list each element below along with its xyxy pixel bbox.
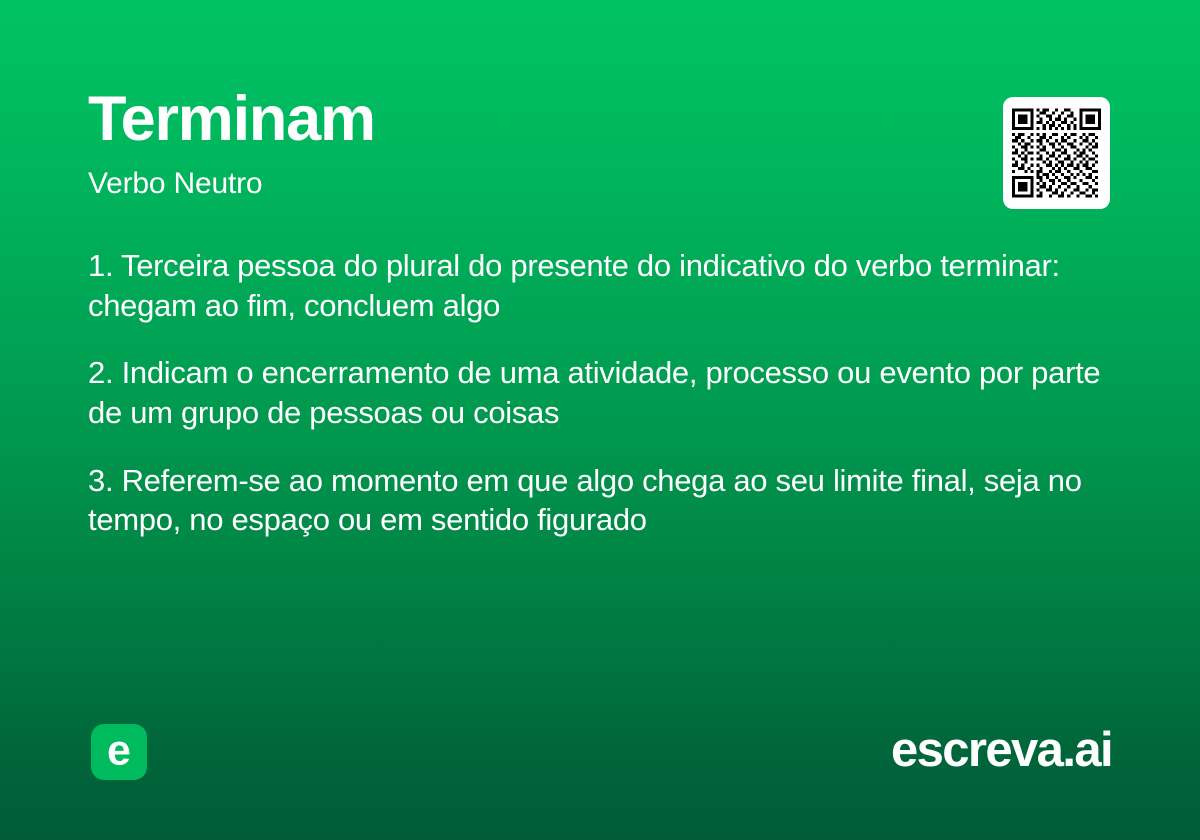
dictionary-card: Terminam Verbo Neutro	[0, 0, 1200, 840]
escreva-logo[interactable]: e	[91, 724, 147, 780]
definition-item: 2. Indicam o encerramento de uma ativida…	[88, 353, 1118, 432]
definition-item: 3. Referem-se ao momento em que algo che…	[88, 461, 1118, 540]
qr-code-icon	[1012, 106, 1101, 200]
card-header: Terminam Verbo Neutro	[88, 88, 1112, 200]
logo-letter: e	[91, 730, 147, 773]
definition-item: 1. Terceira pessoa do plural do presente…	[88, 246, 1118, 325]
page-title: Terminam	[88, 88, 1112, 151]
word-class-label: Verbo Neutro	[88, 167, 1112, 200]
qr-code-card[interactable]	[1003, 97, 1110, 209]
brand-wordmark: escreva.ai	[891, 726, 1112, 775]
definitions-list: 1. Terceira pessoa do plural do presente…	[88, 246, 1118, 540]
